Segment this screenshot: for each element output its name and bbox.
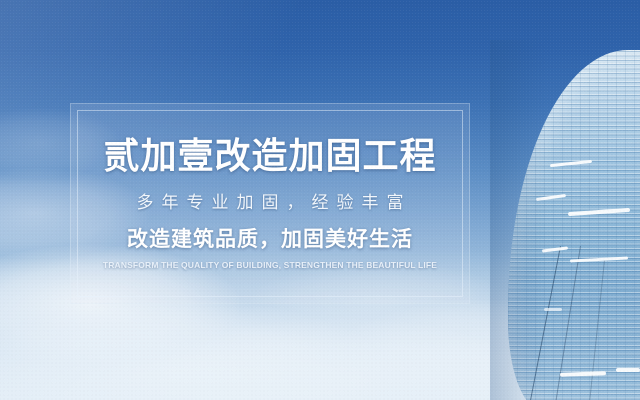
banner-subtitle: 多年专业加固，经验丰富 — [129, 194, 412, 211]
skyscraper-glass-glint — [616, 368, 640, 372]
skyscraper-glass-glint — [544, 308, 562, 311]
banner-english-tagline: TRANSFORM THE QUALITY OF BUILDING, STREN… — [103, 261, 437, 270]
panel-content: 贰加壹改造加固工程 多年专业加固，经验丰富 改造建筑品质，加固美好生活 TRAN… — [71, 104, 469, 303]
skyscraper-photo — [490, 0, 640, 400]
skyscraper-mullions — [508, 50, 640, 400]
skyscraper-tower — [508, 50, 640, 400]
banner-stage: 贰加壹改造加固工程 多年专业加固，经验丰富 改造建筑品质，加固美好生活 TRAN… — [0, 0, 640, 400]
banner-title: 贰加壹改造加固工程 — [103, 138, 436, 174]
banner-slogan: 改造建筑品质，加固美好生活 — [127, 229, 413, 250]
hero-text-panel: 贰加壹改造加固工程 多年专业加固，经验丰富 改造建筑品质，加固美好生活 TRAN… — [70, 103, 470, 304]
